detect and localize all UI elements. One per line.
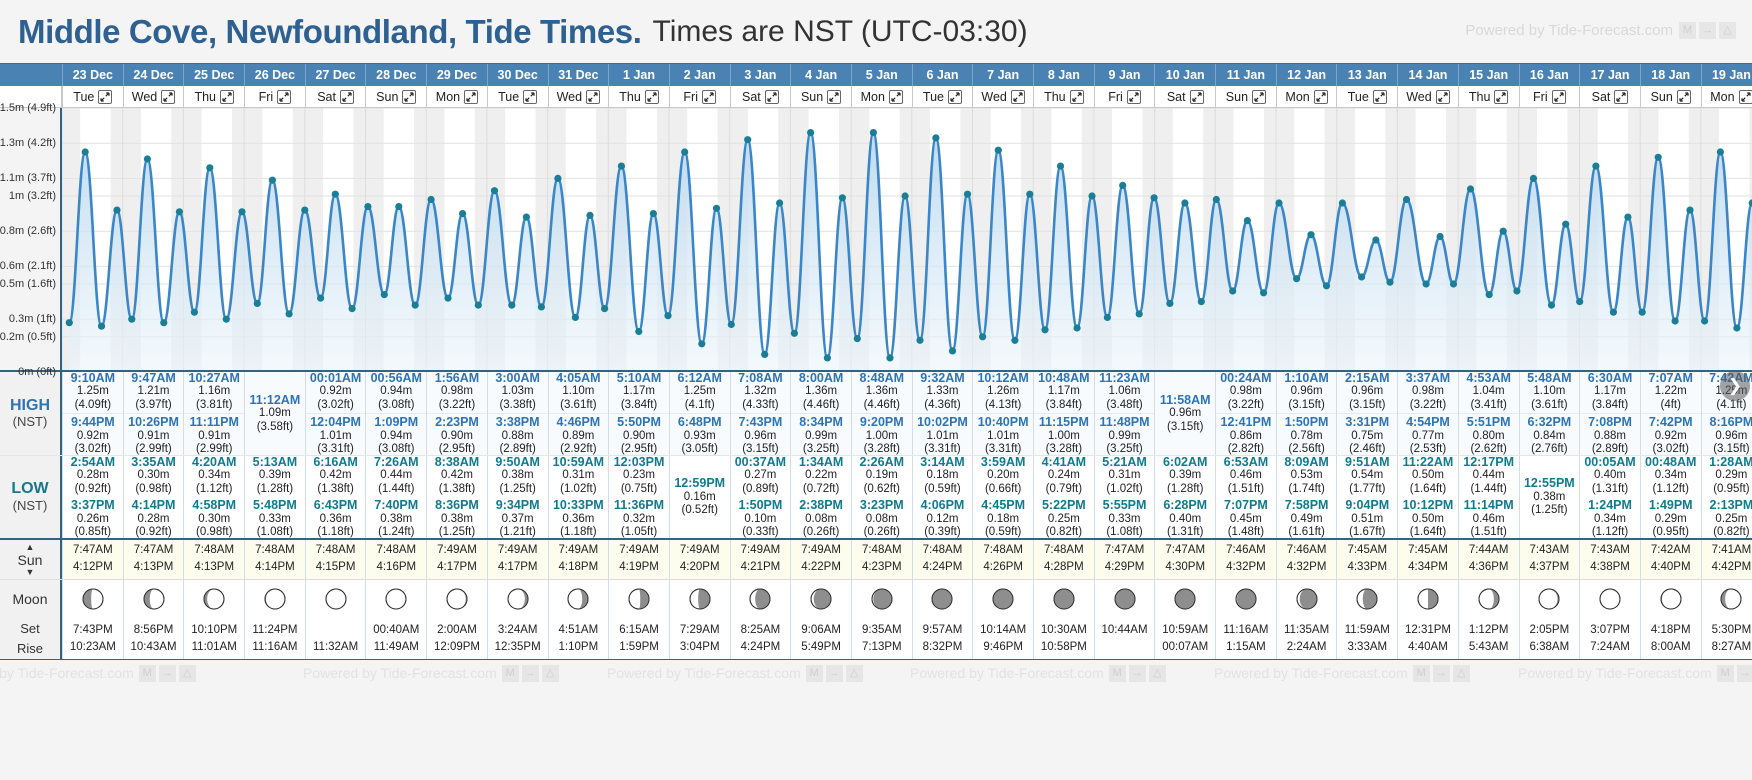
weekday-cell[interactable]: Sat xyxy=(305,86,366,107)
tide-event: 8:00AM1.36m(4.46ft) xyxy=(791,372,851,414)
expand-icon[interactable] xyxy=(1252,90,1266,104)
tide-height-ft: (3.22ft) xyxy=(1398,399,1458,412)
tide-event: 4:06PM0.12m(0.39ft) xyxy=(913,497,973,538)
tide-height-m: 1.09m xyxy=(245,407,305,420)
tide-event: 1:10AM0.96m(3.15ft) xyxy=(1277,372,1337,414)
sun-cell: 7:49AM4:17PM xyxy=(426,540,487,579)
tide-height-ft: (1.28ft) xyxy=(245,483,305,496)
chart-plot-area[interactable] xyxy=(62,108,1752,370)
weekday-text: Sat xyxy=(1167,90,1186,104)
tide-event: 9:32AM1.33m(4.36ft) xyxy=(913,372,973,414)
weekday-text: Mon xyxy=(436,90,460,104)
tide-height-ft: (3.02ft) xyxy=(306,399,366,412)
weekday-cell[interactable]: Thu xyxy=(608,86,669,107)
moon-set-time: 2:05PM xyxy=(1530,622,1570,639)
tide-time: 6:02AM xyxy=(1155,456,1215,469)
tide-time: 1:28AM xyxy=(1702,456,1752,469)
tide-height-ft: (4.1ft) xyxy=(1702,399,1752,412)
high-tide-cell: 8:00AM1.36m(4.46ft)8:34PM0.99m(3.25ft) xyxy=(790,372,851,455)
weekday-cell[interactable]: Sun xyxy=(1640,86,1701,107)
tide-height-ft: (0.89ft) xyxy=(731,483,791,496)
date-header-cell[interactable]: 12 Jan xyxy=(1276,64,1337,86)
moon-set-time: 11:24PM xyxy=(252,622,297,639)
date-header-cell[interactable]: 23 Dec xyxy=(62,64,123,86)
date-header-cell[interactable]: 28 Dec xyxy=(365,64,426,86)
weekday-cell[interactable]: Mon xyxy=(851,86,912,107)
low-tide-cell: 6:02AM0.39m(1.28ft)6:28PM0.40m(1.31ft) xyxy=(1154,456,1215,538)
sunset-time: 4:12PM xyxy=(73,560,113,576)
sun-cell: 7:47AM4:12PM xyxy=(62,540,123,579)
expand-icon[interactable] xyxy=(1190,90,1204,104)
sun-cell: 7:46AM4:32PM xyxy=(1276,540,1337,579)
low-tide-cell: 5:13AM0.39m(1.28ft)5:48PM0.33m(1.08ft) xyxy=(244,456,305,538)
tide-height-ft: (1.24ft) xyxy=(366,526,426,538)
tide-event: 3:35AM0.30m(0.98ft) xyxy=(124,456,184,497)
moon-setrise-cell: 5:30PM8:27AM xyxy=(1701,618,1752,659)
tide-time: 9:20PM xyxy=(852,415,912,430)
date-header-cell[interactable]: 19 Jan xyxy=(1701,64,1752,86)
tide-time: 11:12AM xyxy=(245,393,305,408)
tide-height-m: 0.92m xyxy=(306,385,366,398)
tide-time: 4:45PM xyxy=(973,498,1033,513)
tide-height-ft: (3.08ft) xyxy=(366,399,426,412)
tide-height-m: 0.91m xyxy=(124,430,184,443)
expand-icon[interactable] xyxy=(889,90,903,104)
tide-event: 11:14PM0.46m(1.51ft) xyxy=(1459,497,1519,538)
date-header-row: 23 Dec24 Dec25 Dec26 Dec27 Dec28 Dec29 D… xyxy=(0,63,1752,86)
tide-time: 10:59AM xyxy=(549,456,609,469)
tide-height-m: 0.36m xyxy=(549,513,609,526)
weekday-cell[interactable]: Tue xyxy=(62,86,123,107)
sun-cell: 7:49AM4:17PM xyxy=(487,540,548,579)
moon-cell xyxy=(972,580,1033,618)
tide-height-ft: (0.72ft) xyxy=(791,483,851,496)
tide-event: 1:34AM0.22m(0.72ft) xyxy=(791,456,851,497)
tide-height-m: 1.10m xyxy=(549,385,609,398)
tide-time: 10:02PM xyxy=(913,415,973,430)
high-tide-cell: 5:48AM1.10m(3.61ft)6:32PM0.84m(2.76ft) xyxy=(1519,372,1580,455)
expand-icon[interactable] xyxy=(1127,90,1141,104)
moon-rise-time: 12:09PM xyxy=(434,639,480,656)
moon-set-time: 9:06AM xyxy=(801,622,841,639)
moon-set-time: 9:57AM xyxy=(923,622,963,639)
tide-time: 7:40PM xyxy=(366,498,426,513)
expand-icon[interactable] xyxy=(220,90,234,104)
weekday-cell[interactable]: Fri xyxy=(1519,86,1580,107)
date-header-cell[interactable]: 24 Dec xyxy=(123,64,184,86)
date-header-cell[interactable]: 5 Jan xyxy=(851,64,912,86)
tide-event: 7:08AM1.32m(4.33ft) xyxy=(731,372,791,414)
tide-height-ft: (1.48ft) xyxy=(1216,526,1276,538)
tide-table: HIGH (NST) 9:10AM1.25m(4.09ft)9:44PM0.92… xyxy=(0,372,1752,660)
date-header-cell[interactable]: 27 Dec xyxy=(305,64,366,86)
moon-rise-time: 9:46PM xyxy=(983,639,1023,656)
weekday-cell[interactable]: Thu xyxy=(1458,86,1519,107)
expand-icon[interactable] xyxy=(1314,90,1328,104)
tide-event: 4:20AM0.34m(1.12ft) xyxy=(184,456,244,497)
tide-height-ft: (1.05ft) xyxy=(609,526,669,538)
tide-height-ft: (0.85ft) xyxy=(63,526,123,538)
high-tide-cell: 2:15AM0.96m(3.15ft)3:31PM0.75m(2.46ft) xyxy=(1336,372,1397,455)
low-tide-cell: 3:59AM0.20m(0.66ft)4:45PM0.18m(0.59ft) xyxy=(972,456,1033,538)
sunset-time: 4:20PM xyxy=(680,560,720,576)
weekday-cell[interactable]: Fri xyxy=(244,86,305,107)
low-tide-cell: 00:37AM0.27m(0.89ft)1:50PM0.10m(0.33ft) xyxy=(730,456,791,538)
footer-watermark-text: Powered by Tide-Forecast.com xyxy=(303,665,497,681)
moon-cell xyxy=(1336,580,1397,618)
tide-event: 7:26AM0.44m(1.44ft) xyxy=(366,456,426,497)
weekday-text: Thu xyxy=(1044,90,1066,104)
expand-icon[interactable] xyxy=(1614,90,1628,104)
y-axis-tick: 0.5m (1.6ft) xyxy=(0,278,56,290)
tide-height-m: 0.89m xyxy=(549,430,609,443)
tide-height-m: 1.01m xyxy=(913,430,973,443)
weekday-cell[interactable]: Wed xyxy=(548,86,609,107)
sunset-time: 4:24PM xyxy=(923,560,963,576)
sun-cell: 7:41AM4:42PM xyxy=(1701,540,1752,579)
expand-icon[interactable] xyxy=(827,90,841,104)
tide-event: 00:01AM0.92m(3.02ft) xyxy=(306,372,366,414)
tide-event: 12:03PM0.23m(0.75ft) xyxy=(609,456,669,497)
moon-phase-icon xyxy=(1660,588,1682,610)
moon-rise-time: 6:38AM xyxy=(1530,639,1570,656)
sunset-time: 4:13PM xyxy=(194,560,234,576)
moon-set-time: 9:35AM xyxy=(862,622,902,639)
tide-height-m: 0.29m xyxy=(1641,513,1701,526)
date-header-cell[interactable]: 6 Jan xyxy=(912,64,973,86)
tide-event: 5:22PM0.25m(0.82ft) xyxy=(1034,497,1094,538)
expand-icon[interactable] xyxy=(586,90,600,104)
y-axis-tick: 1.5m (4.9ft) xyxy=(0,102,56,114)
tide-height-m: 0.88m xyxy=(1580,430,1640,443)
tide-event: 1:28AM0.29m(0.95ft) xyxy=(1702,456,1752,497)
tide-height-ft: (2.56ft) xyxy=(1277,443,1337,455)
weekday-cell[interactable]: Sat xyxy=(1154,86,1215,107)
tide-height-m: 1.36m xyxy=(852,385,912,398)
weekday-cell[interactable]: Wed xyxy=(972,86,1033,107)
expand-icon[interactable] xyxy=(1436,90,1450,104)
sunrise-time: 7:47AM xyxy=(1105,543,1145,559)
expand-icon[interactable] xyxy=(464,90,478,104)
date-header-cell[interactable]: 15 Jan xyxy=(1458,64,1519,86)
date-header-cell[interactable]: 4 Jan xyxy=(790,64,851,86)
sun-cell: 7:44AM4:36PM xyxy=(1458,540,1519,579)
expand-icon[interactable] xyxy=(98,90,112,104)
date-header-cell[interactable]: 11 Jan xyxy=(1215,64,1276,86)
date-header-cell[interactable]: 9 Jan xyxy=(1094,64,1155,86)
low-tide-cell: 6:53AM0.46m(1.51ft)7:07PM0.45m(1.48ft) xyxy=(1215,456,1276,538)
date-header-cell[interactable]: 30 Dec xyxy=(487,64,548,86)
tide-time: 1:50PM xyxy=(731,498,791,513)
date-header-cell[interactable]: 14 Jan xyxy=(1397,64,1458,86)
weekday-cell[interactable]: Sat xyxy=(730,86,791,107)
tide-time: 3:37AM xyxy=(1398,372,1458,385)
tide-event: 9:34PM0.37m(1.21ft) xyxy=(488,497,548,538)
sun-cell: 7:49AM4:18PM xyxy=(548,540,609,579)
expand-icon[interactable] xyxy=(1070,90,1084,104)
y-axis-tick: 0.6m (2.1ft) xyxy=(0,260,56,272)
low-tide-cell: 11:22AM0.50m(1.64ft)10:12PM0.50m(1.64ft) xyxy=(1397,456,1458,538)
powered-by-text: Powered by Tide-Forecast.com xyxy=(1465,22,1673,39)
date-header-cell[interactable]: 1 Jan xyxy=(608,64,669,86)
weekday-text: Sun xyxy=(801,90,823,104)
sun-cell: 7:43AM4:37PM xyxy=(1519,540,1580,579)
moon-rise-time: 1:15AM xyxy=(1226,639,1266,656)
tide-height-ft: (3.22ft) xyxy=(1216,399,1276,412)
tide-event: 7:07AM1.22m(4ft) xyxy=(1641,372,1701,414)
weekday-cell[interactable]: Sun xyxy=(1215,86,1276,107)
low-tide-cell: 12:55PM0.38m(1.25ft) xyxy=(1519,456,1580,538)
tide-time: 2:26AM xyxy=(852,456,912,469)
weekday-cell[interactable]: Fri xyxy=(1094,86,1155,107)
tide-height-m: 0.46m xyxy=(1459,513,1519,526)
mountain-icon: △ xyxy=(1453,665,1470,682)
sun-cell: 7:48AM4:24PM xyxy=(912,540,973,579)
tide-height-ft: (2.62ft) xyxy=(1459,443,1519,455)
tide-event: 6:43PM0.36m(1.18ft) xyxy=(306,497,366,538)
tide-event: 6:28PM0.40m(1.31ft) xyxy=(1155,497,1215,538)
tide-event: 6:02AM0.39m(1.28ft) xyxy=(1155,456,1215,497)
date-header-cell[interactable]: 16 Jan xyxy=(1519,64,1580,86)
sunrise-time: 7:49AM xyxy=(437,543,477,559)
tide-height-ft: (0.98ft) xyxy=(184,526,244,538)
expand-icon[interactable] xyxy=(948,90,962,104)
weekday-cell[interactable]: Sat xyxy=(1579,86,1640,107)
wind-icon: M xyxy=(1679,22,1696,39)
weekday-cell[interactable]: Tue xyxy=(487,86,548,107)
tide-event: 7:08PM0.88m(2.89ft) xyxy=(1580,414,1640,455)
chart-y-axis: 1.5m (4.9ft)1.3m (4.2ft)1.1m (3.7ft)1m (… xyxy=(0,108,62,370)
tide-height-m: 0.96m xyxy=(1155,407,1215,420)
tide-event: 5:13AM0.39m(1.28ft) xyxy=(245,456,305,497)
tide-event: 10:48AM1.17m(3.84ft) xyxy=(1034,372,1094,414)
tide-height-ft: (4.46ft) xyxy=(852,399,912,412)
tide-time: 1:09PM xyxy=(366,415,426,430)
mountain-icon: △ xyxy=(542,665,559,682)
tide-height-ft: (0.62ft) xyxy=(852,483,912,496)
moon-cell xyxy=(1640,580,1701,618)
weekday-cell[interactable]: Thu xyxy=(1033,86,1094,107)
moon-cell xyxy=(1276,580,1337,618)
sunrise-time: 7:48AM xyxy=(255,543,295,559)
moon-set-time: 10:30AM xyxy=(1041,622,1087,639)
date-header-cell[interactable]: 25 Dec xyxy=(183,64,244,86)
expand-icon[interactable] xyxy=(702,90,716,104)
low-tide-cell: 2:54AM0.28m(0.92ft)3:37PM0.26m(0.85ft) xyxy=(62,456,123,538)
high-tide-cell: 7:07AM1.22m(4ft)7:42PM0.92m(3.02ft) xyxy=(1640,372,1701,455)
moon-rise-time: 5:43AM xyxy=(1469,639,1509,656)
footer-watermark: Powered by Tide-Forecast.comM→△ xyxy=(1214,665,1470,682)
tide-time: 00:56AM xyxy=(366,372,426,385)
tide-height-ft: (2.99ft) xyxy=(184,443,244,455)
weekday-cell[interactable]: Fri xyxy=(669,86,730,107)
moon-setrise-cell: 1:12PM5:43AM xyxy=(1458,618,1519,659)
tide-height-m: 0.25m xyxy=(1034,513,1094,526)
tide-time: 3:37PM xyxy=(63,498,123,513)
sunset-time: 4:33PM xyxy=(1347,560,1387,576)
tide-event: 2:13PM0.25m(0.82ft) xyxy=(1702,497,1752,538)
expand-icon[interactable] xyxy=(277,90,291,104)
moon-cell xyxy=(426,580,487,618)
sunrise-time: 7:48AM xyxy=(1044,543,1084,559)
tide-event: 4:58PM0.30m(0.98ft) xyxy=(184,497,244,538)
expand-icon[interactable] xyxy=(1677,90,1691,104)
weekday-text: Tue xyxy=(1348,90,1369,104)
tide-height-ft: (0.26ft) xyxy=(791,526,851,538)
date-header-cell[interactable]: 29 Dec xyxy=(426,64,487,86)
weekday-cell[interactable]: Wed xyxy=(123,86,184,107)
tide-time: 5:50PM xyxy=(609,415,669,430)
tide-time: 4:41AM xyxy=(1034,456,1094,469)
moon-setrise-cell: 11:59AM3:33AM xyxy=(1336,618,1397,659)
moon-rise-time: 10:58PM xyxy=(1041,639,1087,656)
tide-time: 6:53AM xyxy=(1216,456,1276,469)
tide-height-m: 0.37m xyxy=(488,513,548,526)
weekday-cell[interactable]: Mon xyxy=(1276,86,1337,107)
tide-event: 5:21AM0.31m(1.02ft) xyxy=(1095,456,1155,497)
tide-height-ft: (1.31ft) xyxy=(1155,526,1215,538)
weekday-cell[interactable]: Tue xyxy=(1336,86,1397,107)
weekday-cell[interactable]: Mon xyxy=(426,86,487,107)
weekday-cell[interactable]: Tue xyxy=(912,86,973,107)
moon-phase-icon xyxy=(507,588,529,610)
moon-setrise-cell: 00:40AM11:49AM xyxy=(365,618,426,659)
expand-icon[interactable] xyxy=(523,90,537,104)
expand-icon[interactable] xyxy=(1011,90,1025,104)
weekday-cell[interactable]: Thu xyxy=(183,86,244,107)
tide-time: 12:55PM xyxy=(1520,476,1580,491)
tide-height-ft: (1.12ft) xyxy=(1580,526,1640,538)
tide-time: 2:23PM xyxy=(427,415,487,430)
tide-height-ft: (3.61ft) xyxy=(1520,399,1580,412)
tide-event: 6:32PM0.84m(2.76ft) xyxy=(1520,414,1580,455)
sunrise-time: 7:48AM xyxy=(376,543,416,559)
tide-height-m: 1.25m xyxy=(63,385,123,398)
tide-event: 2:15AM0.96m(3.15ft) xyxy=(1337,372,1397,414)
weekday-cell[interactable]: Wed xyxy=(1397,86,1458,107)
moon-phase-icon xyxy=(325,588,347,610)
expand-icon[interactable] xyxy=(765,90,779,104)
moon-set-time: 4:51AM xyxy=(559,622,599,639)
date-header-cell[interactable]: 26 Dec xyxy=(244,64,305,86)
tide-height-m: 0.26m xyxy=(63,513,123,526)
sunrise-time: 7:48AM xyxy=(923,543,963,559)
moon-set-time: 7:43PM xyxy=(73,622,113,639)
expand-icon[interactable] xyxy=(340,90,354,104)
moon-setrise-cell: 3:07PM7:24AM xyxy=(1579,618,1640,659)
weekday-cell[interactable]: Mon xyxy=(1701,86,1752,107)
moon-cell xyxy=(1154,580,1215,618)
arrow-icon: → xyxy=(1699,22,1716,39)
high-tide-cell: 00:01AM0.92m(3.02ft)12:04PM1.01m(3.31ft) xyxy=(305,372,366,455)
date-header-cell[interactable]: 13 Jan xyxy=(1336,64,1397,86)
date-header-cell[interactable]: 31 Dec xyxy=(548,64,609,86)
sunset-arrow-icon: ▼ xyxy=(26,568,35,577)
expand-icon[interactable] xyxy=(1552,90,1566,104)
weekday-cell[interactable]: Sun xyxy=(790,86,851,107)
date-header-cell[interactable]: 3 Jan xyxy=(730,64,791,86)
tide-height-m: 0.46m xyxy=(1216,469,1276,482)
weekday-cell[interactable]: Sun xyxy=(365,86,426,107)
expand-icon[interactable] xyxy=(1739,90,1752,104)
tide-time: 3:59AM xyxy=(973,456,1033,469)
moon-cell xyxy=(912,580,973,618)
tide-height-m: 0.80m xyxy=(1459,430,1519,443)
date-header-cell[interactable]: 8 Jan xyxy=(1033,64,1094,86)
weekday-text: Mon xyxy=(1710,90,1734,104)
date-header-cell[interactable]: 2 Jan xyxy=(669,64,730,86)
moon-phase-icon xyxy=(871,588,893,610)
tide-height-ft: (3.15ft) xyxy=(1155,421,1215,434)
moon-setrise-cell: 11:35AM2:24AM xyxy=(1276,618,1337,659)
date-header-cell[interactable]: 18 Jan xyxy=(1640,64,1701,86)
expand-icon[interactable] xyxy=(1373,90,1387,104)
tide-event: 1:49PM0.29m(0.95ft) xyxy=(1641,497,1701,538)
tide-height-ft: (2.89ft) xyxy=(1580,443,1640,455)
tide-height-m: 0.92m xyxy=(1641,430,1701,443)
tide-time: 11:48PM xyxy=(1095,415,1155,430)
tide-forecast-page: Middle Cove, Newfoundland, Tide Times. T… xyxy=(0,0,1752,780)
tide-time: 5:48PM xyxy=(245,498,305,513)
sunrise-time: 7:45AM xyxy=(1408,543,1448,559)
date-header-cell[interactable]: 7 Jan xyxy=(972,64,1033,86)
moon-row: Moon xyxy=(0,580,1752,618)
weekday-text: Mon xyxy=(861,90,885,104)
tide-event: 9:20PM1.00m(3.28ft) xyxy=(852,414,912,455)
scroll-right-button[interactable]: ❯ xyxy=(1720,371,1750,401)
tide-time: 1:10AM xyxy=(1277,372,1337,385)
expand-icon[interactable] xyxy=(645,90,659,104)
tide-event: 6:12AM1.25m(4.1ft) xyxy=(670,372,730,414)
tide-height-ft: (2.89ft) xyxy=(488,443,548,455)
tide-time: 00:48AM xyxy=(1641,456,1701,469)
moon-rise-time: 11:16AM xyxy=(252,639,297,656)
expand-icon[interactable] xyxy=(161,90,175,104)
moon-rise-time: 8:32PM xyxy=(923,639,963,656)
tide-time: 5:51PM xyxy=(1459,415,1519,430)
moon-set-time: 10:59AM xyxy=(1162,622,1208,639)
moon-rise-time: 7:13PM xyxy=(862,639,902,656)
tide-event: 9:10AM1.25m(4.09ft) xyxy=(63,372,123,414)
tide-height-m: 0.23m xyxy=(609,469,669,482)
moon-rise-time: 12:35PM xyxy=(495,639,541,656)
date-header-cell[interactable]: 10 Jan xyxy=(1154,64,1215,86)
tide-height-ft: (0.95ft) xyxy=(1702,483,1752,496)
tide-time: 12:17PM xyxy=(1459,456,1519,469)
tide-height-m: 0.18m xyxy=(973,513,1033,526)
sun-row: ▲ Sun ▼ 7:47AM4:12PM7:47AM4:13PM7:48AM4:… xyxy=(0,540,1752,580)
tide-time: 5:55PM xyxy=(1095,498,1155,513)
moon-phase-icon xyxy=(143,588,165,610)
moon-cell xyxy=(487,580,548,618)
expand-icon[interactable] xyxy=(1494,90,1508,104)
moon-cell xyxy=(123,580,184,618)
tide-event: 11:36PM0.32m(1.05ft) xyxy=(609,497,669,538)
tide-event: 10:59AM0.31m(1.02ft) xyxy=(549,456,609,497)
tide-height-ft: (0.39ft) xyxy=(913,526,973,538)
tide-event: 6:53AM0.46m(1.51ft) xyxy=(1216,456,1276,497)
tide-event: 2:38PM0.08m(0.26ft) xyxy=(791,497,851,538)
expand-icon[interactable] xyxy=(402,90,416,104)
sunrise-time: 7:46AM xyxy=(1226,543,1266,559)
date-header-cell[interactable]: 17 Jan xyxy=(1579,64,1640,86)
sun-label-text: Sun xyxy=(18,553,43,567)
low-tide-cell: 12:59PM0.16m(0.52ft) xyxy=(669,456,730,538)
tide-height-m: 1.25m xyxy=(670,385,730,398)
tide-event: 10:12AM1.26m(4.13ft) xyxy=(973,372,1033,414)
tide-time: 4:53AM xyxy=(1459,372,1519,385)
arrow-icon: → xyxy=(1433,665,1450,682)
